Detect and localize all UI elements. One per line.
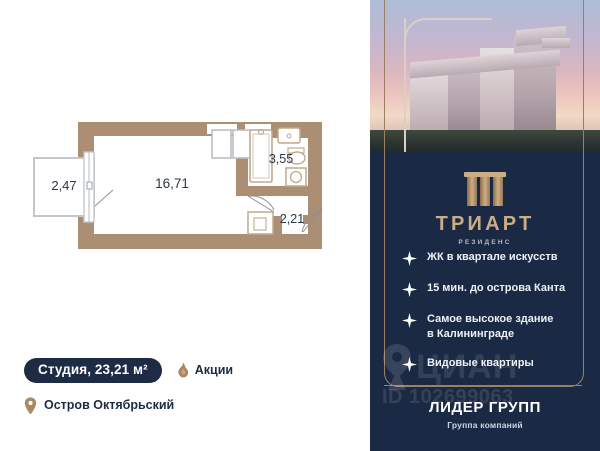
wall-bottom — [78, 234, 322, 249]
kitchen-unit — [248, 212, 273, 234]
column-2 — [480, 176, 490, 206]
area-label-balcony: 2,47 — [51, 178, 76, 193]
area-type-badge: Студия, 23,21 м² — [24, 358, 162, 383]
street-lamp-arm — [404, 18, 492, 44]
brand-name: ТРИАРТ — [370, 213, 600, 236]
location-row[interactable]: Остров Октябрьский — [24, 397, 354, 414]
listing-card: 2,47 16,71 3,55 2,21 Студия, 23,21 м² Ак… — [0, 0, 600, 451]
column-1 — [467, 176, 477, 206]
brand-logo: ТРИАРТ РЕЗИДЕНС — [370, 172, 600, 246]
badge-row: Студия, 23,21 м² Акции — [24, 358, 354, 383]
sink-fixture — [278, 128, 300, 143]
map-pin-icon — [24, 397, 37, 414]
brand-subtitle: РЕЗИДЕНС — [370, 239, 600, 246]
washing-machine-fixture — [286, 168, 306, 186]
feature-item: Самое высокое здание в Калининграде — [402, 312, 582, 341]
feature-text: Видовые квартиры — [427, 356, 534, 371]
floor-plan-svg: 2,47 16,71 3,55 2,21 — [0, 0, 370, 340]
promo-tag[interactable]: Акции — [176, 362, 233, 378]
floor-plan-pane: 2,47 16,71 3,55 2,21 Студия, 23,21 м² Ак… — [0, 0, 370, 451]
feature-item: Видовые квартиры — [402, 356, 582, 372]
feature-text: Самое высокое здание в Калининграде — [427, 312, 553, 341]
feature-item: 15 мин. до острова Канта — [402, 281, 582, 297]
feature-text: 15 мин. до острова Канта — [427, 281, 565, 296]
developer-name: ЛИДЕР ГРУПП — [370, 399, 600, 416]
cantilever — [542, 38, 570, 48]
promo-label: Акции — [195, 363, 233, 377]
area-label-living: 16,71 — [155, 176, 189, 191]
bath-wall-bottom — [236, 186, 308, 196]
divider — [384, 385, 582, 386]
sparkle-icon — [402, 251, 417, 266]
developer-block: ЛИДЕР ГРУПП Группа компаний — [370, 399, 600, 430]
floor-plan-drawing: 2,47 16,71 3,55 2,21 — [0, 0, 370, 340]
feature-item: ЖК в квартале искусств — [402, 250, 582, 266]
balcony-handle — [87, 182, 92, 189]
area-label-bathroom: 3,55 — [269, 152, 293, 166]
feature-text: ЖК в квартале искусств — [427, 250, 557, 265]
sparkle-icon — [402, 282, 417, 297]
developer-subtitle: Группа компаний — [370, 420, 600, 430]
sparkle-icon — [402, 313, 417, 328]
column-3 — [493, 176, 503, 206]
balcony-door-swing — [95, 190, 113, 206]
building-photo — [370, 0, 600, 152]
area-label-hallway: 2,21 — [280, 212, 304, 226]
flame-icon — [176, 362, 190, 378]
wall-right — [308, 122, 322, 249]
sparkle-icon — [402, 357, 417, 372]
advertisement-panel[interactable]: ТРИАРТ РЕЗИДЕНС ЖК в квартале искусств 1… — [370, 0, 600, 451]
three-columns-icon — [370, 172, 600, 206]
location-label: Остров Октябрьский — [44, 398, 174, 412]
listing-summary: Студия, 23,21 м² Акции Остров Октябрьски… — [24, 358, 354, 414]
feature-list: ЖК в квартале искусств 15 мин. до остров… — [402, 250, 582, 387]
